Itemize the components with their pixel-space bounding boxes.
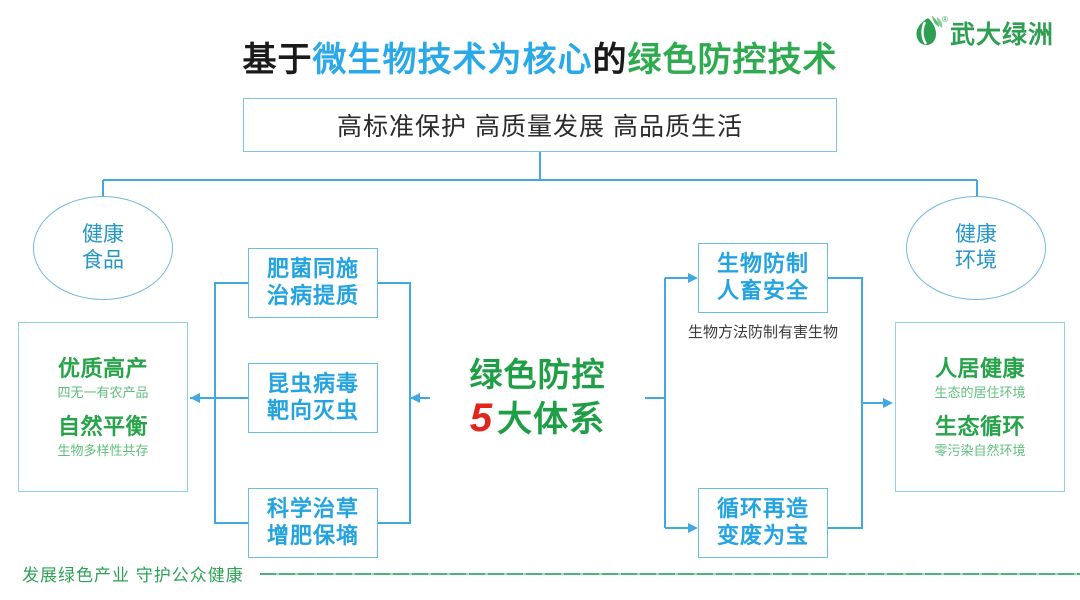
- ellipse-healthy-food: 健康 食品: [33, 196, 173, 300]
- panel-left-sub-1: 四无一有农产品: [57, 385, 148, 401]
- subtitle-text: 高标准保护 高质量发展 高品质生活: [337, 107, 743, 143]
- node-box-left-3: 科学治草 增肥保墒: [248, 488, 378, 558]
- panel-right-group-2: 生态循环 零污染自然环境: [934, 414, 1025, 459]
- node-left-1-line1: 肥菌同施: [267, 256, 359, 283]
- node-left-2-line1: 昆虫病毒: [267, 371, 359, 398]
- center-headline-suffix: 大体系: [497, 400, 605, 439]
- panel-right-sub-1: 生态的居住环境: [934, 385, 1025, 401]
- footer-slogan: 发展绿色产业 守护公众健康: [22, 561, 244, 586]
- outcome-panel-right: 人居健康 生态的居住环境 生态循环 零污染自然环境: [895, 322, 1065, 492]
- footer: 发展绿色产业 守护公众健康: [22, 561, 1080, 586]
- node-left-3-line1: 科学治草: [267, 496, 359, 523]
- center-headline-line1: 绿色防控: [430, 356, 645, 395]
- title-segment-3: 的: [593, 41, 628, 79]
- node-right-1-caption: 生物方法防制有害生物: [652, 321, 874, 342]
- registered-mark: ®: [942, 15, 948, 24]
- center-headline-number: 5: [470, 396, 497, 440]
- node-right-1-line1: 生物防制: [717, 251, 809, 278]
- node-box-left-2: 昆虫病毒 靶向灭虫: [248, 363, 378, 433]
- center-headline: 绿色防控 5大体系: [430, 356, 645, 442]
- panel-left-head-2: 自然平衡: [57, 414, 148, 440]
- title-segment-1: 基于: [243, 41, 313, 79]
- title-segment-2: 微生物技术为核心: [313, 41, 593, 79]
- node-right-2-line2: 变废为宝: [717, 523, 809, 550]
- outcome-panel-left: 优质高产 四无一有农产品 自然平衡 生物多样性共存: [18, 322, 188, 492]
- page-title: 基于微生物技术为核心的绿色防控技术: [0, 32, 1080, 81]
- node-left-2-line2: 靶向灭虫: [267, 398, 359, 425]
- panel-left-sub-2: 生物多样性共存: [57, 443, 148, 459]
- center-headline-line2: 5大体系: [430, 395, 645, 442]
- connector-lines: [0, 0, 1080, 600]
- ellipse-right-line1: 健康: [955, 222, 997, 248]
- ellipse-left-line1: 健康: [82, 222, 124, 248]
- panel-left-group-2: 自然平衡 生物多样性共存: [57, 414, 148, 459]
- node-right-2-line1: 循环再造: [717, 496, 809, 523]
- panel-left-group-1: 优质高产 四无一有农产品: [57, 356, 148, 401]
- node-right-1-line2: 人畜安全: [717, 278, 809, 305]
- ellipse-healthy-environment: 健康 环境: [906, 196, 1046, 300]
- panel-right-sub-2: 零污染自然环境: [934, 443, 1025, 459]
- subtitle-box: 高标准保护 高质量发展 高品质生活: [243, 98, 837, 152]
- footer-divider: [260, 573, 1080, 575]
- ellipse-left-line2: 食品: [82, 248, 124, 274]
- node-box-right-1: 生物防制 人畜安全: [698, 243, 828, 313]
- panel-right-head-1: 人居健康: [934, 356, 1025, 382]
- node-box-left-1: 肥菌同施 治病提质: [248, 248, 378, 318]
- node-box-right-2: 循环再造 变废为宝: [698, 488, 828, 558]
- slide-canvas: ® 武大绿洲 基于微生物技术为核心的绿色防控技术 高标准保护 高质量发展 高品质…: [0, 0, 1080, 600]
- title-segment-4: 绿色防控技术: [628, 41, 838, 79]
- panel-right-head-2: 生态循环: [934, 414, 1025, 440]
- panel-right-group-1: 人居健康 生态的居住环境: [934, 356, 1025, 401]
- node-left-3-line2: 增肥保墒: [267, 523, 359, 550]
- node-left-1-line2: 治病提质: [267, 283, 359, 310]
- ellipse-right-line2: 环境: [955, 248, 997, 274]
- panel-left-head-1: 优质高产: [57, 356, 148, 382]
